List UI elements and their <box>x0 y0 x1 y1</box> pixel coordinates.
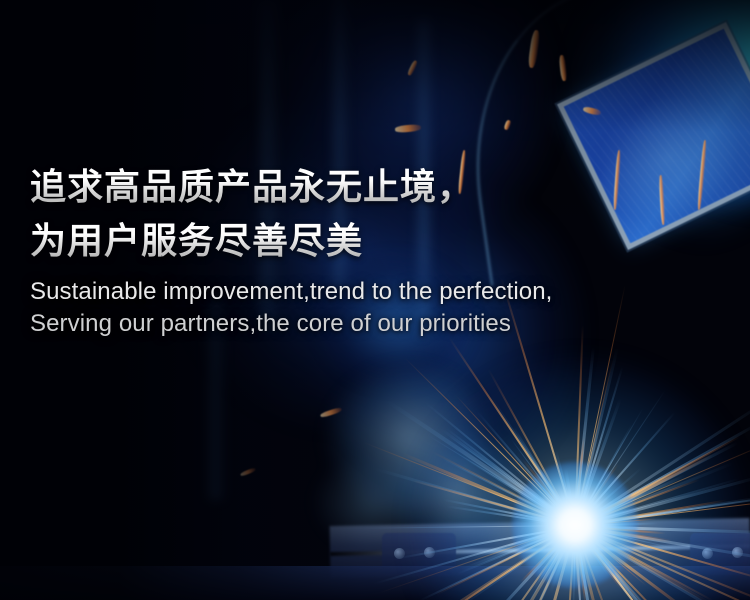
headline-cn-line-1: 追求高品质产品永无止境， <box>30 160 730 214</box>
headline-en-block: Sustainable improvement,trend to the per… <box>30 276 730 340</box>
banner-copy: 追求高品质产品永无止境， 为用户服务尽善尽美 Sustainable impro… <box>30 160 730 340</box>
hero-banner: 追求高品质产品永无止境， 为用户服务尽善尽美 Sustainable impro… <box>0 0 750 600</box>
headline-cn-line-2: 为用户服务尽善尽美 <box>30 214 730 268</box>
headline-en-line-2: Serving our partners,the core of our pri… <box>30 308 730 340</box>
headline-en-line-1: Sustainable improvement,trend to the per… <box>30 276 730 308</box>
